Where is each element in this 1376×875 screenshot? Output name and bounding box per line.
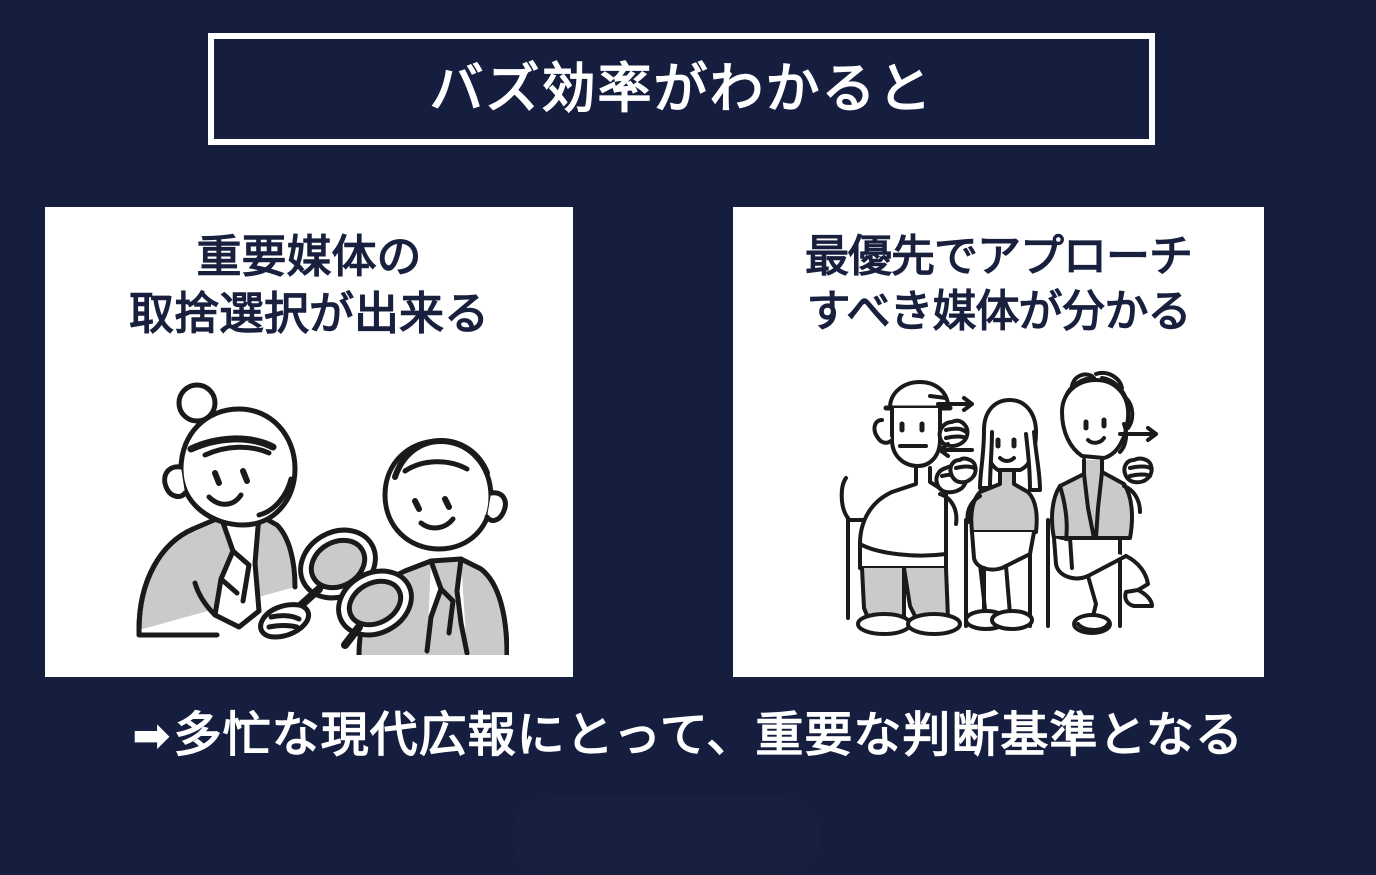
two-people-with-magnifying-glasses-icon [109,365,509,655]
card-left-illustration-wrap [45,342,573,677]
page-title: バズ効率がわかると [430,62,934,116]
card-important-media: 重要媒体の 取捨選択が出来る [45,207,573,677]
footer-statement: ➡多忙な現代広報にとって、重要な判断基準となる [0,710,1376,763]
page-title-box: バズ効率がわかると [208,33,1155,145]
three-seated-people-gesturing-icon [834,368,1164,648]
card-left-heading: 重要媒体の 取捨選択が出来る [129,229,489,342]
right-arrow-icon: ➡ [132,709,172,761]
card-priority-approach: 最優先でアプローチ すべき媒体が分かる [733,207,1264,677]
card-right-illustration-wrap [733,340,1264,677]
card-right-heading: 最優先でアプローチ すべき媒体が分かる [805,229,1192,340]
bottom-rounded-shape [513,797,820,875]
footer-statement-text: 多忙な現代広報にとって、重要な判断基準となる [174,709,1244,762]
